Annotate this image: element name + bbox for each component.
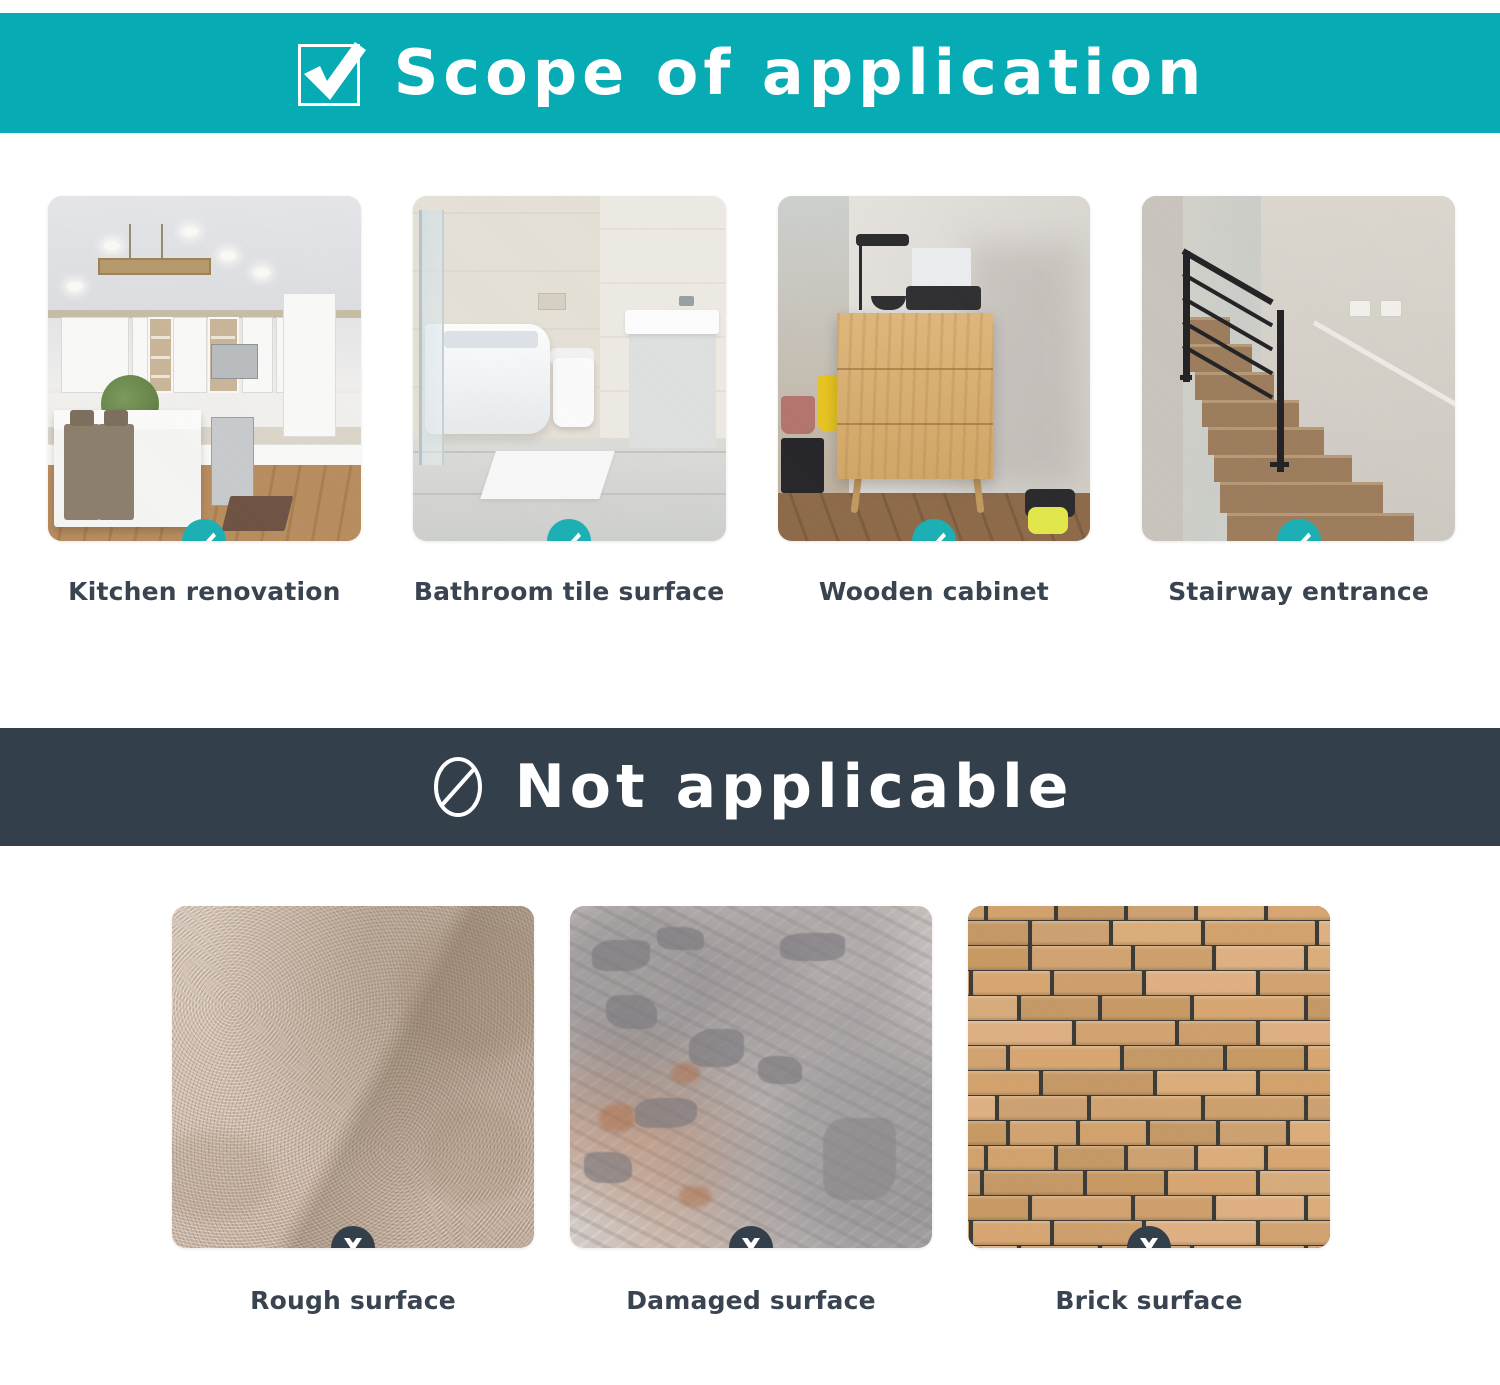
infographic-page: Scope of application <box>0 0 1500 1385</box>
x-icon <box>1138 1237 1160 1248</box>
stairway-caption: Stairway entrance <box>1168 577 1429 606</box>
bathroom-thumbnail[interactable] <box>413 196 726 541</box>
x-icon <box>740 1237 762 1248</box>
stairway-thumbnail[interactable] <box>1142 196 1455 541</box>
damaged-surface-photo <box>570 906 932 1248</box>
cabinet-photo <box>778 196 1091 541</box>
damaged-caption: Damaged surface <box>626 1286 876 1315</box>
cabinet-caption: Wooden cabinet <box>819 577 1049 606</box>
brick-caption: Brick surface <box>1055 1286 1242 1315</box>
damaged-thumbnail[interactable] <box>570 906 932 1248</box>
bathroom-photo <box>413 196 726 541</box>
check-icon <box>556 528 582 541</box>
cabinet-thumbnail[interactable] <box>778 196 1091 541</box>
check-icon <box>191 528 217 541</box>
kitchen-thumbnail[interactable] <box>48 196 361 541</box>
not-applicable-card-row: Rough surface <box>172 906 1330 1315</box>
scope-card-cabinet[interactable]: Wooden cabinet <box>778 196 1091 606</box>
scope-banner-title: Scope of application <box>394 42 1207 104</box>
brick-thumbnail[interactable] <box>968 906 1330 1248</box>
x-icon <box>342 1237 364 1248</box>
na-card-rough[interactable]: Rough surface <box>172 906 534 1315</box>
brick-surface-photo <box>968 906 1330 1248</box>
not-applicable-banner-title: Not applicable <box>515 757 1074 817</box>
scope-card-stairway[interactable]: Stairway entrance <box>1142 196 1455 606</box>
bathroom-caption: Bathroom tile surface <box>414 577 725 606</box>
na-card-damaged[interactable]: Damaged surface <box>570 906 932 1315</box>
scope-card-row: Kitchen renovation <box>48 196 1455 606</box>
kitchen-photo <box>48 196 361 541</box>
scope-card-kitchen[interactable]: Kitchen renovation <box>48 196 361 606</box>
rough-caption: Rough surface <box>250 1286 456 1315</box>
not-applicable-banner: Not applicable <box>0 728 1500 846</box>
prohibited-icon <box>427 756 489 818</box>
na-card-brick[interactable]: Brick surface <box>968 906 1330 1315</box>
scope-banner: Scope of application <box>0 13 1500 133</box>
kitchen-caption: Kitchen renovation <box>68 577 340 606</box>
scope-card-bathroom[interactable]: Bathroom tile surface <box>413 196 726 606</box>
check-icon <box>921 528 947 541</box>
stairway-photo <box>1142 196 1455 541</box>
rough-surface-photo <box>172 906 534 1248</box>
checkbox-checked-icon <box>294 36 368 110</box>
rough-thumbnail[interactable] <box>172 906 534 1248</box>
check-icon <box>1286 528 1312 541</box>
